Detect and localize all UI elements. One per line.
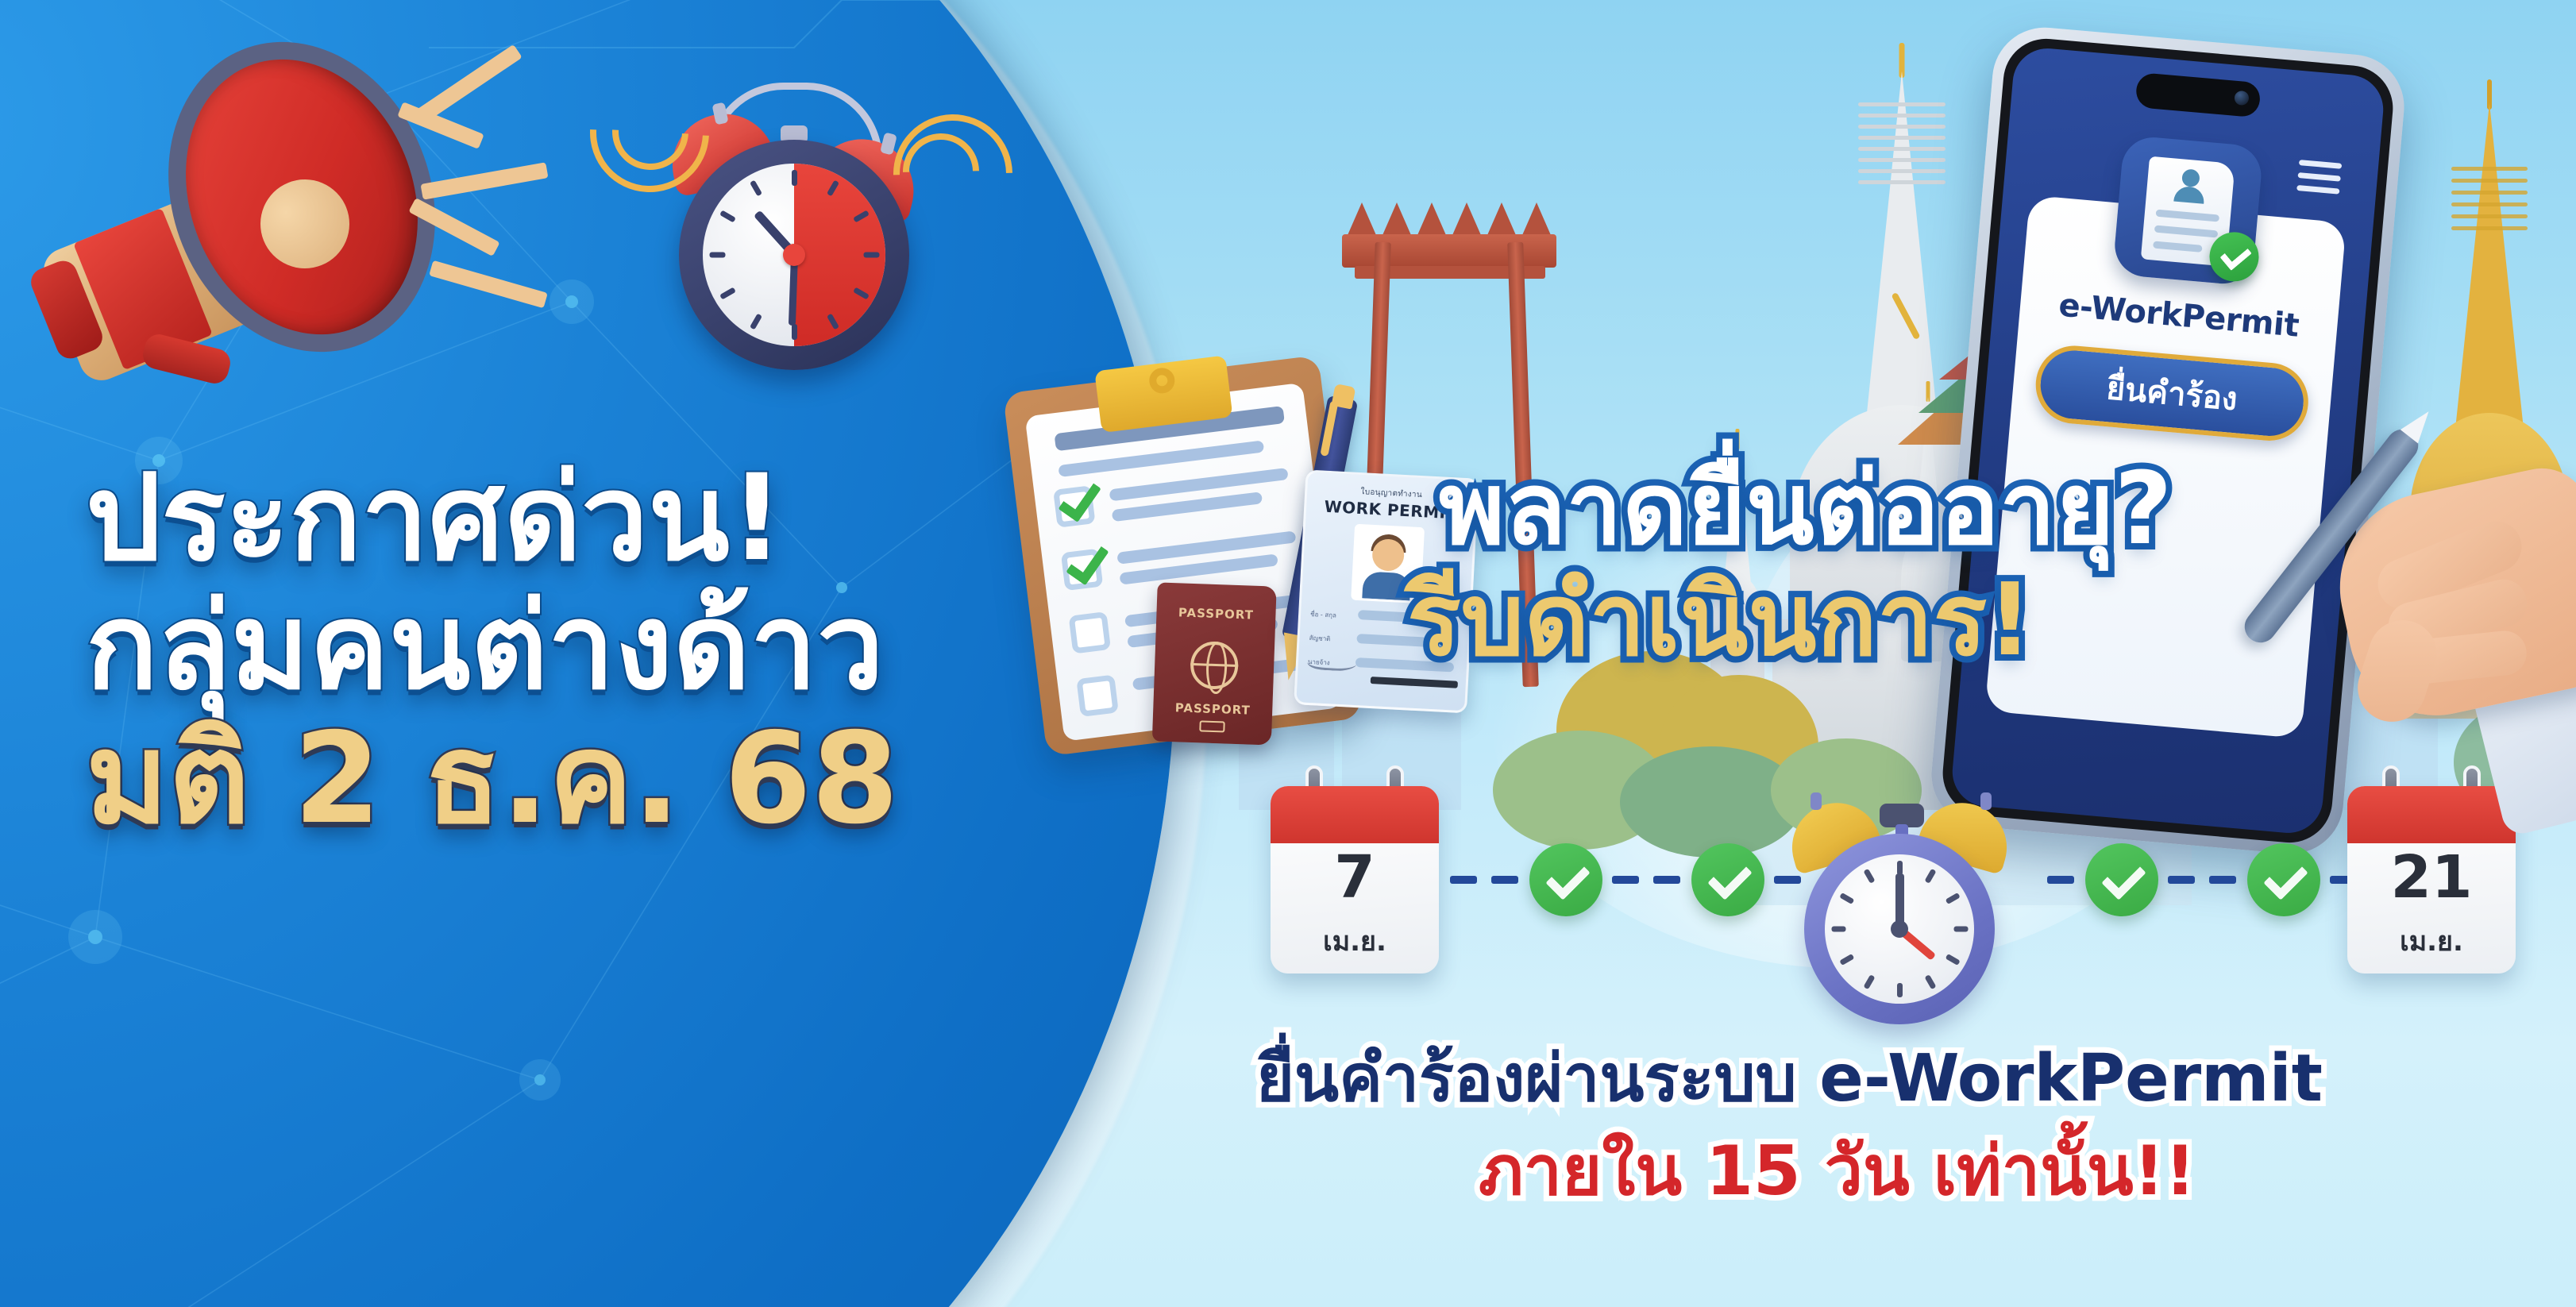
footer-line1: ยื่นคำร้องผ่านระบบ e-WorkPermit	[1256, 1047, 2323, 1112]
calendar-day: 7	[1271, 848, 1439, 907]
deadline-clock-icon	[1771, 758, 2033, 1020]
right-headline-line1: พลาดยื่นต่ออายุ?	[1439, 459, 2173, 559]
calendar-month: เม.ย.	[1271, 920, 1439, 962]
clock-center-pin	[1891, 920, 1908, 938]
alarm-clock-icon	[631, 38, 973, 380]
submit-request-button[interactable]: ยื่นคำร้อง	[2033, 342, 2312, 444]
timeline-dash	[1653, 876, 1680, 884]
chedi-rings	[2451, 159, 2528, 238]
step-check-icon	[1529, 843, 1602, 916]
clock-face	[703, 164, 885, 346]
clipboard-document-group: PASSPORT PASSPORT ใบอนุญาตทำงาน WORK PER…	[1001, 324, 1492, 788]
document-avatar-icon	[2171, 168, 2209, 206]
timeline-dash	[2209, 876, 2236, 884]
clock-bell-foot-right	[1980, 792, 1992, 810]
passport-chip	[1199, 720, 1224, 732]
document-line	[2153, 241, 2203, 252]
left-headline-line3: มติ 2 ธ.ค. 68	[86, 716, 899, 842]
document-verified-icon	[2112, 135, 2264, 287]
clock-body	[1804, 834, 1995, 1024]
hand-with-stylus	[2287, 421, 2576, 818]
checkbox	[1069, 611, 1111, 653]
clock-center-pin	[783, 244, 805, 266]
timeline-dash	[2168, 876, 2195, 884]
sound-bolt	[429, 260, 548, 309]
front-camera-icon	[2234, 91, 2250, 106]
passport-label-bottom: PASSPORT	[1153, 700, 1273, 718]
calendar-header	[1271, 786, 1439, 843]
passport-label-top: PASSPORT	[1156, 604, 1276, 623]
start-date-calendar: 7 เม.ย.	[1271, 786, 1439, 974]
clock-face	[1825, 854, 1974, 1004]
step-check-icon	[2247, 843, 2320, 916]
prang-rings	[1858, 95, 1945, 191]
calendar-day: 21	[2347, 848, 2516, 907]
step-check-icon	[2085, 843, 2158, 916]
chedi-spire	[2455, 103, 2524, 437]
announcement-banner: PASSPORT PASSPORT ใบอนุญาตทำงาน WORK PER…	[0, 0, 2576, 1307]
right-headline-line2: รีบดำเนินการ!	[1407, 570, 2033, 670]
passport-booklet: PASSPORT PASSPORT	[1152, 582, 1277, 745]
work-permit-field-label: สัญชาติ	[1309, 633, 1330, 644]
timeline-dash	[2047, 876, 2074, 884]
clock-body	[679, 140, 909, 370]
left-headline-line2: กลุ่มคนต่างด้าว	[86, 588, 884, 707]
step-check-icon	[1691, 843, 1764, 916]
timeline-dash	[1491, 876, 1518, 884]
calendar-month: เม.ย.	[2347, 920, 2516, 962]
avatar-torso	[1362, 571, 1411, 600]
app-title: e-WorkPermit	[2019, 283, 2339, 348]
timeline-dash	[1612, 876, 1639, 884]
left-headline-line1: ประกาศด่วน!	[86, 459, 784, 578]
checkbox	[1076, 674, 1118, 716]
passport-globe-icon	[1190, 641, 1239, 690]
sound-bolt	[415, 44, 523, 124]
phone-notch	[2134, 72, 2261, 118]
work-permit-signature	[1305, 650, 1359, 672]
timeline-dash	[1450, 876, 1477, 884]
work-permit-barcode	[1371, 677, 1458, 688]
megaphone-icon	[48, 24, 540, 397]
work-permit-field-label: ชื่อ - สกุล	[1310, 609, 1336, 621]
clipboard-clip-hole	[1147, 367, 1176, 395]
document-line	[2154, 226, 2218, 238]
sound-bolt	[420, 162, 548, 199]
document-line	[2156, 210, 2219, 222]
footer-line2: ภายใน 15 วัน เท่านั้น!!	[1479, 1137, 2196, 1205]
clock-bell-foot-left	[1811, 792, 1822, 810]
hamburger-menu-icon[interactable]	[2296, 160, 2342, 195]
